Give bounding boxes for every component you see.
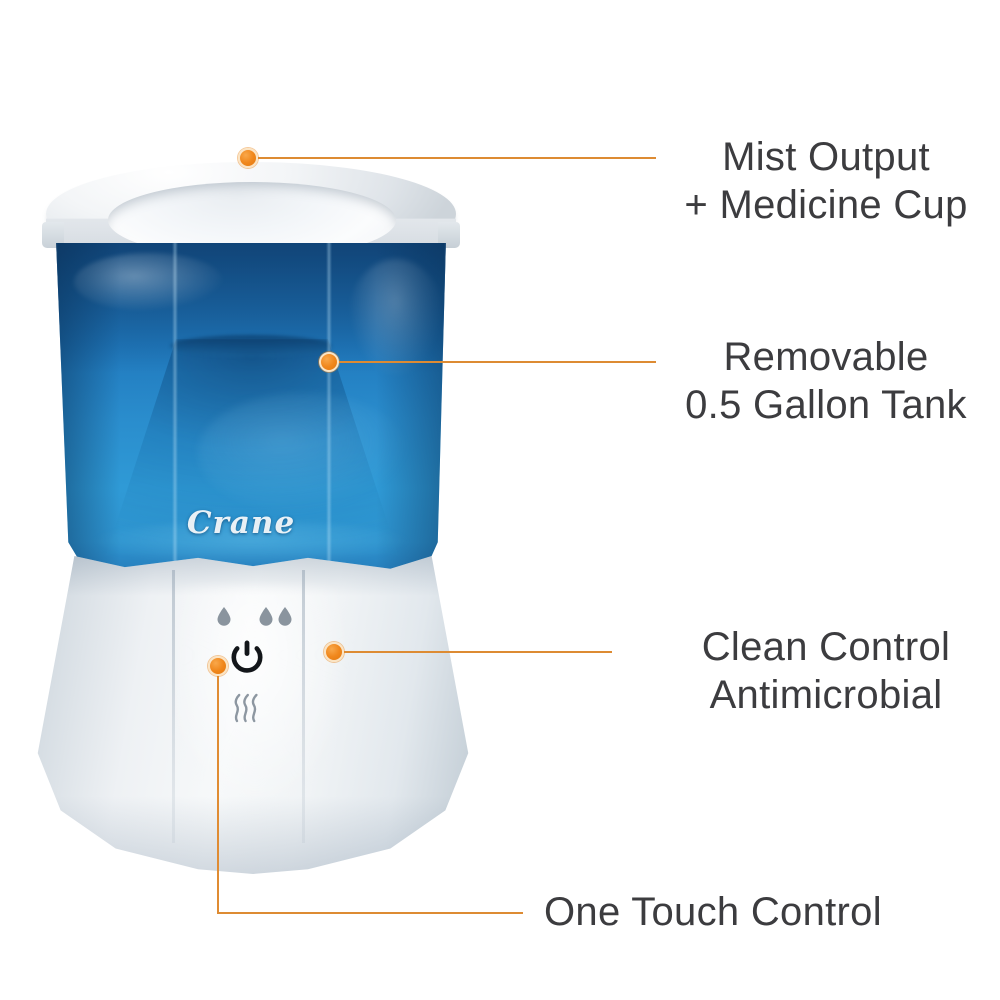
callout-dot-one-touch-control[interactable] xyxy=(208,656,228,676)
product-feature-diagram: Crane xyxy=(0,0,1000,1000)
callout-label-one-touch-control: One Touch Control xyxy=(544,888,984,936)
callout-label-removable-tank: Removable 0.5 Gallon Tank xyxy=(628,333,1000,429)
callout-dot-clean-control[interactable] xyxy=(324,642,344,662)
humidifier-product-illustration: Crane xyxy=(0,0,540,1000)
callout-label-mist-output-line-1: Mist Output xyxy=(628,133,1000,181)
humidifier-base xyxy=(24,556,482,874)
callout-dot-removable-tank[interactable] xyxy=(319,352,339,372)
base-bottom-shading xyxy=(24,796,482,874)
tank-shade-right xyxy=(376,243,454,583)
callout-label-mist-output: Mist Output + Medicine Cup xyxy=(628,133,1000,229)
callout-line-one-touch-horizontal xyxy=(217,912,523,914)
tank-inner-cone-rim xyxy=(170,335,332,357)
callout-line-clean-control xyxy=(344,651,612,653)
tank-base-glow xyxy=(90,521,412,567)
callout-line-one-touch-vertical xyxy=(217,672,219,914)
callout-label-removable-tank-line-2: 0.5 Gallon Tank xyxy=(628,381,1000,429)
callout-line-removable-tank xyxy=(339,361,656,363)
tank-edge-right xyxy=(444,243,454,583)
callout-label-clean-control: Clean Control Antimicrobial xyxy=(628,623,1000,719)
callout-dot-mist-output[interactable] xyxy=(238,148,258,168)
callout-label-removable-tank-line-1: Removable xyxy=(628,333,1000,381)
callout-label-clean-control-line-2: Antimicrobial xyxy=(628,671,1000,719)
tank-edge-left xyxy=(48,243,58,583)
callout-label-mist-output-line-2: + Medicine Cup xyxy=(628,181,1000,229)
tank-shade-left xyxy=(48,243,120,583)
water-tank xyxy=(48,243,454,583)
callout-line-mist-output xyxy=(258,157,656,159)
base-highlight xyxy=(174,586,354,816)
callout-label-one-touch-control-line-1: One Touch Control xyxy=(544,888,984,936)
callout-label-clean-control-line-1: Clean Control xyxy=(628,623,1000,671)
